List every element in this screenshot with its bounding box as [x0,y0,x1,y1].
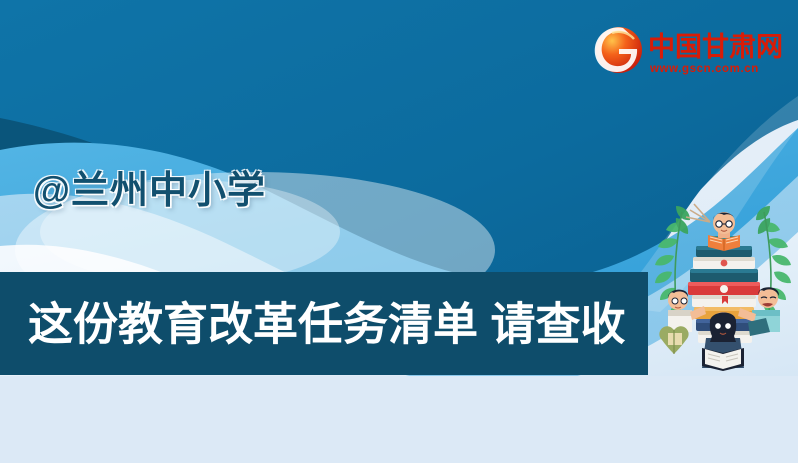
poster-canvas: 中国甘肃网 www.gscn.com.cn @兰州中小学 这份教育改革任务清单 … [0,0,798,463]
logo-brand-text: 中国甘肃网 [648,32,783,63]
heart-leaf-ornament [659,326,688,354]
illustration-students-reading [648,190,798,378]
gansu-net-logo-svg: 中国甘肃网 www.gscn.com.cn [592,22,788,80]
site-logo[interactable]: 中国甘肃网 www.gscn.com.cn [592,22,788,80]
student-top-boy [708,212,740,251]
kicker-text: @兰州中小学 [33,172,266,210]
logo-url-text: www.gscn.com.cn [649,63,759,75]
headline-text: 这份教育改革任务清单 请查收 [28,301,626,346]
headline-band: 这份教育改革任务清单 请查收 [0,272,648,375]
illustration-svg [648,190,798,378]
